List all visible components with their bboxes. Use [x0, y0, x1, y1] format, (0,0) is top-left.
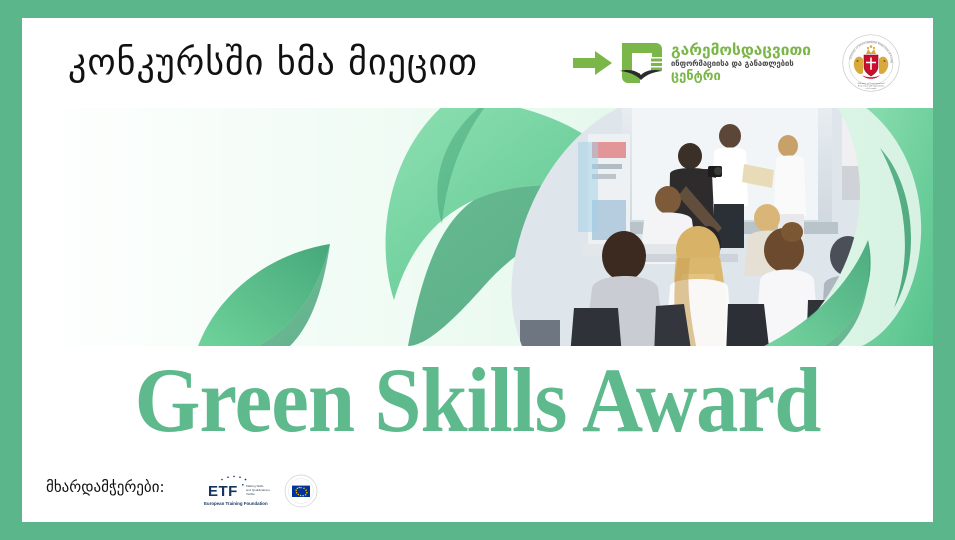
- giec-logo-line1: გარემოსდაცვითი: [671, 43, 811, 59]
- giec-logo-line3: ცენტრი: [671, 70, 811, 83]
- supporters-label: მხარდამჭერები:: [46, 478, 165, 496]
- page-title: Green Skills Award: [95, 354, 860, 446]
- header-title: კონკურსში ხმა მიეცით: [68, 43, 478, 84]
- title-section: Green Skills Award: [22, 346, 933, 454]
- giec-logo: გარემოსდაცვითი ინფორმაციისა და განათლები…: [618, 39, 811, 87]
- svg-text:ETF: ETF: [208, 483, 238, 500]
- giec-logo-line2: ინფორმაციისა და განათლების: [671, 60, 811, 68]
- banner-header: კონკურსში ხმა მიეცით გარ: [22, 18, 933, 108]
- arrow-right-icon: [573, 50, 613, 76]
- banner-root: კონკურსში ხმა მიეცით გარ: [0, 0, 955, 540]
- banner-card: კონკურსში ხმა მიეცით გარ: [22, 18, 933, 522]
- svg-text:of Georgia: of Georgia: [866, 87, 878, 90]
- svg-text:Visible: Visible: [246, 492, 255, 496]
- footer-section: მხარდამჭერები: ETF Making Skills: [22, 454, 933, 522]
- svg-text:European Training Foundation: European Training Foundation: [204, 501, 268, 506]
- european-union-logo: [284, 474, 318, 508]
- giec-book-mark-icon: [618, 39, 666, 87]
- hero-artwork: [22, 108, 933, 346]
- hero-section: [22, 108, 933, 346]
- giec-logo-text: გარემოსდაცვითი ინფორმაციისა და განათლები…: [671, 43, 811, 83]
- ministry-of-environment-emblem-icon: Ministry of Environmental Protection of …: [842, 34, 900, 92]
- etf-logo: ETF Making Skills and Qualifications Vis…: [202, 472, 278, 510]
